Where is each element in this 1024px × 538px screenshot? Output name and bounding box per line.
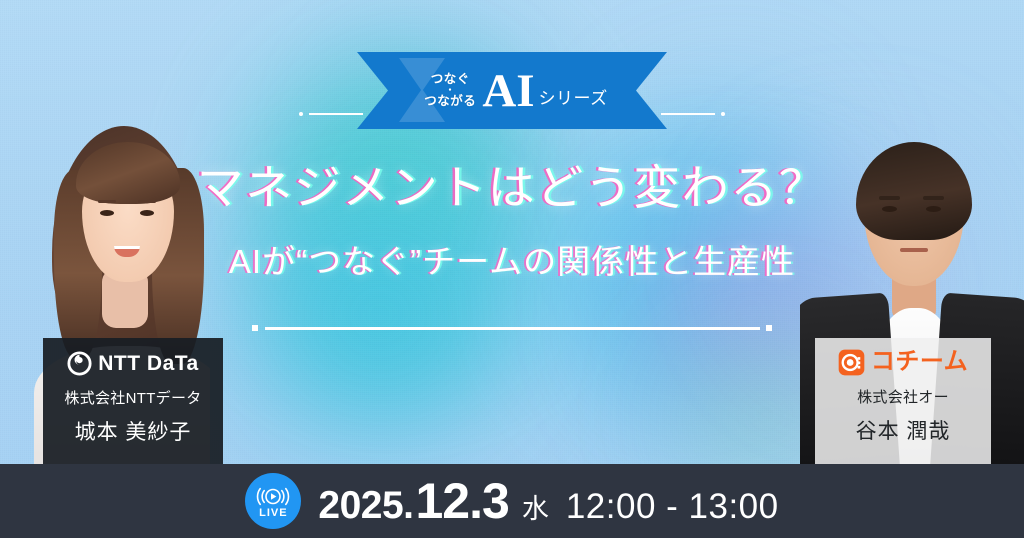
banner-headline: マネジメントはどう変わる？ [0,162,1024,215]
rule-dot-left [299,112,303,116]
series-ribbon: つなぐ ・ つながる AI シリーズ [357,52,667,129]
kochiimu-wordmark: コチーム [871,350,968,374]
ribbon-ai-word: AI [482,68,534,115]
ribbon-line2: つながる [424,94,476,109]
speaker-nameplate-right: コチーム 株式会社オー 谷本 潤哉 [815,338,991,464]
speaker-nameplate-left: NTT DaTa 株式会社NTTデータ 城本 美紗子 [43,338,223,464]
speaker-company-left: 株式会社NTTデータ [64,387,201,408]
speaker-company-right: 株式会社オー [857,386,949,407]
divider-cap-right [766,325,772,331]
ntt-data-logo: NTT DaTa [67,349,198,377]
kochiimu-logo: コチーム [838,348,968,376]
rule-line-right [661,113,715,115]
live-label: LIVE [259,508,287,519]
rule-dot-right [721,112,725,116]
ntt-data-wordmark: NTT DaTa [98,353,198,374]
banner-subheadline: AIが“つなぐ”チームの関係性と生産性 [0,243,1024,281]
ntt-data-mark-icon [67,351,92,376]
live-broadcast-icon [256,487,290,506]
ribbon-series-word: シリーズ [539,84,608,109]
ribbon-tsunagu-block: つなぐ ・ つながる [424,72,476,109]
event-date-time: 2025. 12.3 水 12:00 - 13:00 [318,472,778,530]
kochiimu-mark-icon [838,349,865,376]
speaker-name-right: 谷本 潤哉 [856,415,951,445]
live-badge: LIVE [245,473,301,529]
event-year: 2025. [318,484,413,528]
event-time-range: 12:00 - 13:00 [566,487,779,527]
divider-cap-left [252,325,258,331]
event-month-day: 12.3 [416,472,509,530]
ribbon-dot: ・ [446,88,456,93]
divider-line [265,327,760,330]
speaker-name-left: 城本 美紗子 [75,416,192,446]
rule-line-left [309,113,363,115]
webinar-banner: つなぐ ・ つながる AI シリーズ マネジメントはどう変わる？ AIが“つなぐ… [0,0,1024,538]
event-day-of-week: 水 [522,487,549,526]
event-datetime-bar: LIVE 2025. 12.3 水 12:00 - 13:00 [0,464,1024,538]
